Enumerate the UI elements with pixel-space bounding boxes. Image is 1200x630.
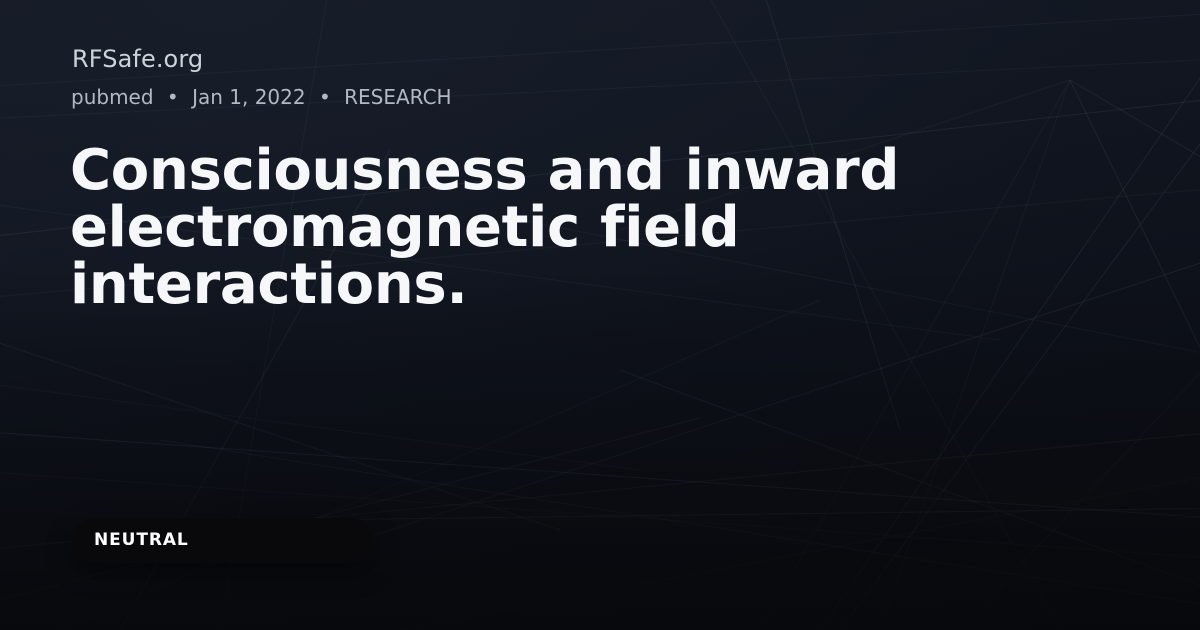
- status-badge: NEUTRAL: [72, 518, 374, 562]
- article-meta: pubmed • Jan 1, 2022 • RESEARCH: [71, 84, 452, 110]
- meta-category: RESEARCH: [344, 85, 451, 109]
- meta-source: pubmed: [71, 85, 154, 109]
- card-content: RFSafe.org pubmed • Jan 1, 2022 • RESEAR…: [0, 0, 1200, 630]
- source-name: RFSafe.org: [72, 44, 203, 74]
- meta-date: Jan 1, 2022: [192, 85, 306, 109]
- page-title: Consciousness and inward electromagnetic…: [70, 142, 1080, 313]
- article-preview-card: RFSafe.org pubmed • Jan 1, 2022 • RESEAR…: [0, 0, 1200, 630]
- meta-separator-1: •: [160, 84, 186, 110]
- badge-row: NEUTRAL: [72, 518, 374, 562]
- meta-separator-2: •: [312, 84, 338, 110]
